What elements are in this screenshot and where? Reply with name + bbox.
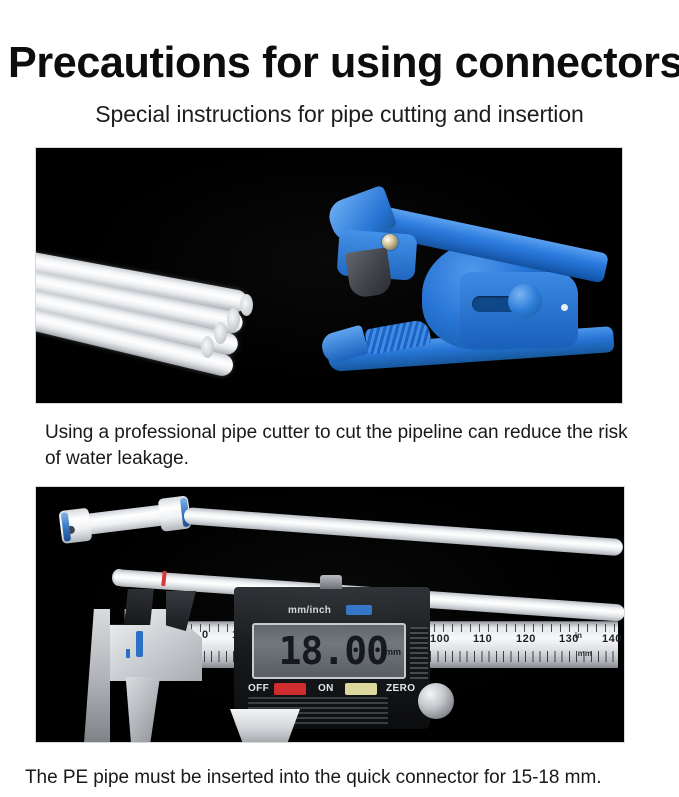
caliper-top-button[interactable] — [320, 575, 342, 589]
caliper-display-body: mm/inch 18.00 mm OFF ON ZERO — [234, 587, 430, 729]
caliper-zero-button[interactable] — [345, 683, 377, 695]
caliper-on-button[interactable] — [274, 683, 306, 695]
pipe-cut-end — [240, 294, 253, 316]
scale-tick-110: 110 — [473, 633, 492, 645]
caliper-mode-label: mm/inch — [288, 605, 331, 616]
digital-caliper: 90 100 110 120 130 140 150 in mm 0 — [82, 591, 622, 742]
pipe-cut-end — [227, 308, 240, 330]
caliper-button-row: OFF ON ZERO — [246, 683, 422, 697]
caliper-reading-value: 18.00 — [279, 627, 388, 675]
caliper-slider-head: 0 10 20 — [82, 591, 252, 742]
caliper-on-label: ON — [318, 683, 334, 694]
page-subtitle: Special instructions for pipe cutting an… — [0, 99, 679, 129]
caliper-measurement-photo: 90 100 110 120 130 140 150 in mm 0 — [36, 487, 624, 742]
caliper-jaw-lower — [116, 677, 160, 742]
pipe-cut-end — [201, 336, 214, 358]
cutter-blade — [345, 247, 393, 298]
caliper-reading-unit: mm — [385, 647, 401, 657]
caliper-vernier-dot — [126, 649, 130, 658]
scale-tick-120: 120 — [516, 633, 536, 645]
caliper-mm-inch-toggle[interactable] — [346, 605, 372, 615]
scale-tick-140: 140 — [602, 633, 622, 645]
pipe-cutter-photo — [36, 148, 622, 403]
caliper-mm-unit-label: mm — [578, 649, 592, 658]
pe-pipe-upper — [183, 507, 623, 556]
pipe-cut-end — [214, 322, 227, 344]
page-title: Precautions for using connectors — [8, 38, 659, 88]
caliper-depth-bar — [230, 709, 300, 742]
blue-pipe-cutter-tool — [322, 188, 622, 383]
cutter-pivot-dot — [561, 304, 568, 311]
caliper-lcd-screen: 18.00 mm — [252, 623, 406, 679]
caliper-jaw-fixed — [166, 591, 196, 631]
vernier-tick-0: 0 — [202, 629, 209, 641]
caption-pipe-cutter: Using a professional pipe cutter to cut … — [45, 420, 645, 472]
caliper-left-post — [84, 609, 110, 742]
caliper-zero-label: ZERO — [386, 683, 415, 694]
product-infographic-page: Precautions for using connectors Special… — [0, 0, 679, 797]
scale-tick-100: 100 — [430, 633, 450, 645]
cutter-screw — [382, 234, 398, 250]
cutter-release-knob — [508, 284, 542, 318]
caliper-off-label: OFF — [248, 683, 269, 694]
caption-insertion-depth: The PE pipe must be inserted into the qu… — [25, 765, 675, 791]
caliper-vernier-index — [136, 631, 143, 657]
white-pe-pipe-bundle — [36, 243, 276, 373]
caliper-side-grill — [410, 627, 428, 681]
caliper-thumb-wheel[interactable] — [418, 683, 454, 719]
caliper-jaw-movable — [124, 589, 154, 625]
caliper-inch-unit-label: in — [575, 631, 582, 640]
